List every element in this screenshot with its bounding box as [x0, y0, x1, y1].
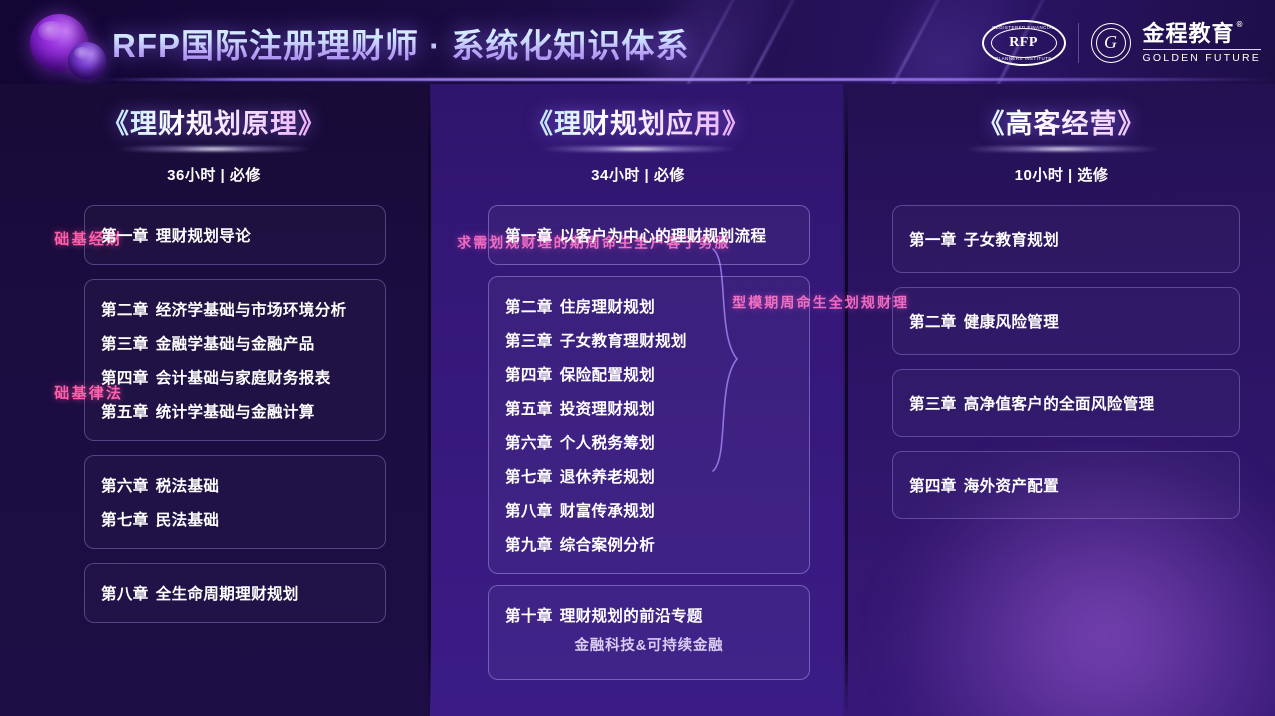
chapter-item[interactable]: 第三章高净值客户的全面风险管理	[893, 386, 1239, 420]
slide-canvas: RFP国际注册理财师 · 系统化知识体系 REGISTERED FINANCIA…	[0, 0, 1275, 716]
chapter-item[interactable]: 第八章全生命周期理财规划	[85, 576, 385, 610]
rfp-arc-bottom: PLANNERS INSTITUTE	[982, 56, 1066, 61]
chapter-number: 第五章	[505, 401, 553, 418]
course-title: 《理财规划应用》	[431, 108, 845, 140]
chapter-name: 经济学基础与市场环境分析	[156, 302, 347, 319]
course-title: 《高客经营》	[848, 108, 1275, 140]
chapter-number: 第四章	[909, 478, 957, 495]
chapter-item[interactable]: 第二章健康风险管理	[893, 304, 1239, 338]
golden-future-wordmark: 金程教育® GOLDEN FUTURE	[1143, 22, 1261, 63]
registered-mark: ®	[1237, 21, 1244, 29]
chapter-item[interactable]: 第五章投资理财规划	[489, 391, 809, 425]
chapter-item[interactable]: 第四章海外资产配置	[893, 468, 1239, 502]
chapter-number: 第二章	[505, 299, 553, 316]
header-underline	[100, 78, 1275, 81]
chapter-number: 第三章	[101, 336, 149, 353]
chapter-name: 以客户为中心的理财规划流程	[560, 228, 767, 245]
chapter-group[interactable]: 第六章税法基础 第七章民法基础	[84, 455, 386, 549]
course-title: 《理财规划原理》	[0, 108, 428, 140]
chapter-number: 第四章	[101, 370, 149, 387]
chapter-name: 税法基础	[156, 478, 220, 495]
page-title: RFP国际注册理财师 · 系统化知识体系	[112, 19, 689, 67]
chapter-name: 健康风险管理	[964, 314, 1059, 331]
logo-divider	[1078, 23, 1079, 63]
title-glow-bar	[538, 146, 738, 152]
chapter-item[interactable]: 第十章理财规划的前沿专题	[489, 598, 809, 632]
course-column-1: 《理财规划原理》 36小时 | 必修 财经基础 法律基础 第一章理财规划导论 第…	[0, 84, 428, 716]
chapter-item[interactable]: 第七章退休养老规划	[489, 459, 809, 493]
chapter-group[interactable]: 第三章高净值客户的全面风险管理	[892, 369, 1240, 437]
chapter-item[interactable]: 第八章财富传承规划	[489, 493, 809, 527]
chapter-number: 第六章	[505, 435, 553, 452]
chapter-name: 高净值客户的全面风险管理	[964, 396, 1155, 413]
bubble-decoration-icon	[24, 6, 120, 84]
chapter-group[interactable]: 第二章经济学基础与市场环境分析 第三章金融学基础与金融产品 第四章会计基础与家庭…	[84, 279, 386, 441]
chapter-group[interactable]: 第一章理财规划导论	[84, 205, 386, 265]
chapter-name: 统计学基础与金融计算	[156, 404, 315, 421]
chapter-name: 子女教育规划	[964, 232, 1059, 249]
course-subtitle: 10小时 | 选修	[848, 164, 1275, 185]
chapter-number: 第七章	[101, 512, 149, 529]
chapter-item[interactable]: 第一章子女教育规划	[893, 222, 1239, 256]
chapter-item[interactable]: 第一章以客户为中心的理财规划流程	[489, 218, 809, 252]
chapter-name: 理财规划导论	[156, 228, 251, 245]
chapter-name: 会计基础与家庭财务报表	[156, 370, 331, 387]
chapter-number: 第一章	[505, 228, 553, 245]
chapter-group[interactable]: 第一章以客户为中心的理财规划流程	[488, 205, 810, 265]
chapter-name: 子女教育理财规划	[560, 333, 687, 350]
chapter-name: 保险配置规划	[560, 367, 655, 384]
chapter-number: 第九章	[505, 537, 553, 554]
rfp-abbr: RFP	[982, 35, 1066, 51]
golden-future-cn-text: 金程教育	[1143, 21, 1235, 46]
chapter-group[interactable]: 第二章住房理财规划 第三章子女教育理财规划 第四章保险配置规划 第五章投资理财规…	[488, 276, 810, 574]
chapter-name: 住房理财规划	[560, 299, 655, 316]
chapter-number: 第六章	[101, 478, 149, 495]
chapter-item[interactable]: 第九章综合案例分析	[489, 527, 809, 561]
course-subtitle: 36小时 | 必修	[0, 164, 428, 185]
chapter-number: 第八章	[101, 586, 149, 603]
chapter-group[interactable]: 第四章海外资产配置	[892, 451, 1240, 519]
chapter-item[interactable]: 第二章经济学基础与市场环境分析	[85, 292, 385, 326]
chapter-group[interactable]: 第八章全生命周期理财规划	[84, 563, 386, 623]
chapter-number: 第四章	[505, 367, 553, 384]
chapter-number: 第二章	[101, 302, 149, 319]
golden-future-en: GOLDEN FUTURE	[1143, 49, 1261, 64]
chapter-number: 第二章	[909, 314, 957, 331]
chapter-group[interactable]: 第一章子女教育规划	[892, 205, 1240, 273]
header-logos: REGISTERED FINANCIAL RFP PLANNERS INSTIT…	[982, 15, 1261, 71]
chapter-name: 理财规划的前沿专题	[560, 608, 703, 625]
chapter-item[interactable]: 第三章金融学基础与金融产品	[85, 326, 385, 360]
chapter-groups: 第一章子女教育规划 第二章健康风险管理 第三章高净值客户的全面风险管理 第四章海…	[892, 205, 1240, 519]
chapter-name: 投资理财规划	[560, 401, 655, 418]
chapter-name: 金融学基础与金融产品	[156, 336, 315, 353]
golden-future-cn: 金程教育®	[1143, 22, 1235, 45]
chapter-item[interactable]: 第六章税法基础	[85, 468, 385, 502]
chapter-number: 第一章	[909, 232, 957, 249]
page-header: RFP国际注册理财师 · 系统化知识体系 REGISTERED FINANCIA…	[0, 0, 1275, 84]
rfp-arc-top: REGISTERED FINANCIAL	[982, 25, 1066, 30]
chapter-group[interactable]: 第十章理财规划的前沿专题 金融科技&可持续金融	[488, 585, 810, 680]
chapter-number: 第五章	[101, 404, 149, 421]
chapter-name: 海外资产配置	[964, 478, 1059, 495]
chapter-item[interactable]: 第五章统计学基础与金融计算	[85, 394, 385, 428]
golden-future-seal-icon: G	[1091, 23, 1131, 63]
chapter-number: 第三章	[909, 396, 957, 413]
chapter-item[interactable]: 第七章民法基础	[85, 502, 385, 536]
title-glow-bar	[962, 146, 1162, 152]
course-column-3: 《高客经营》 10小时 | 选修 第一章子女教育规划 第二章健康风险管理 第三章…	[848, 84, 1275, 716]
chapter-number: 第十章	[505, 608, 553, 625]
chapter-number: 第三章	[505, 333, 553, 350]
chapter-item[interactable]: 第六章个人税务筹划	[489, 425, 809, 459]
course-subtitle: 34小时 | 必修	[431, 164, 845, 185]
chapter-name: 财富传承规划	[560, 503, 655, 520]
chapter-item[interactable]: 第一章理财规划导论	[85, 218, 385, 252]
chapter-item[interactable]: 第四章会计基础与家庭财务报表	[85, 360, 385, 394]
chapter-item[interactable]: 第四章保险配置规划	[489, 357, 809, 391]
rfp-logo-icon: REGISTERED FINANCIAL RFP PLANNERS INSTIT…	[982, 20, 1066, 66]
chapter-name: 全生命周期理财规划	[156, 586, 299, 603]
chapter-number: 第七章	[505, 469, 553, 486]
chapter-groups: 第一章以客户为中心的理财规划流程 第二章住房理财规划 第三章子女教育理财规划 第…	[488, 205, 810, 680]
chapter-name: 退休养老规划	[560, 469, 655, 486]
chapter-group[interactable]: 第二章健康风险管理	[892, 287, 1240, 355]
chapter-number: 第一章	[101, 228, 149, 245]
chapter-name: 综合案例分析	[560, 537, 655, 554]
chapter-name: 个人税务筹划	[560, 435, 655, 452]
chapter-number: 第八章	[505, 503, 553, 520]
chapter-name: 民法基础	[156, 512, 220, 529]
course-column-2: 《理财规划应用》 34小时 | 必修 服务于客户全生命周期的理财规划需求 理财规…	[431, 84, 845, 716]
chapter-item[interactable]: 第二章住房理财规划	[489, 289, 809, 323]
chapter-note: 金融科技&可持续金融	[489, 632, 809, 661]
title-glow-bar	[114, 146, 314, 152]
chapter-item[interactable]: 第三章子女教育理财规划	[489, 323, 809, 357]
chapter-groups: 第一章理财规划导论 第二章经济学基础与市场环境分析 第三章金融学基础与金融产品 …	[84, 205, 386, 623]
golden-future-monogram: G	[1091, 32, 1131, 53]
